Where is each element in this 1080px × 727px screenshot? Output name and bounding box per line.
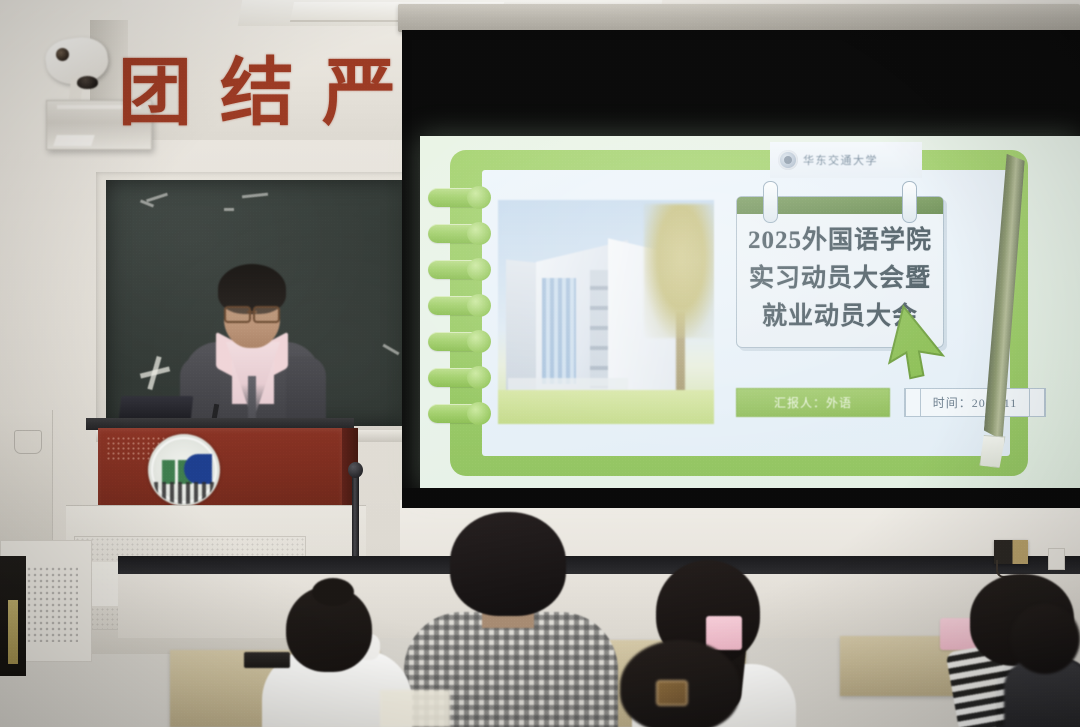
spiral-ring: [428, 260, 486, 279]
notebook-spiral-rings: [428, 188, 492, 442]
spiral-ring: [428, 224, 486, 243]
camera-lens-icon: [56, 48, 69, 61]
dark-device: [244, 652, 290, 668]
spiral-ring: [428, 188, 486, 207]
spiral-ring: [428, 296, 486, 315]
list-item: [1010, 604, 1080, 727]
screen-valance: [398, 4, 1080, 32]
slide-date-label: 时间：2024.11: [904, 388, 1046, 417]
university-logo-plate: 华东交通大学: [770, 142, 922, 178]
chalk-mark: [242, 193, 268, 199]
cabinet-handle[interactable]: [14, 430, 42, 454]
microphone-head-icon: [348, 462, 363, 478]
classroom-scene: 团 结 严: [0, 0, 1080, 727]
screen-bottom-bar: [402, 488, 1080, 508]
wall-motto-char-1: 团: [118, 57, 192, 131]
laptop[interactable]: [119, 396, 194, 420]
paper-sheet: [380, 690, 450, 727]
university-logo-icon: [778, 150, 798, 170]
spiral-ring: [428, 368, 486, 387]
camera-second-lens-icon: [77, 76, 98, 89]
chalk-mark: [224, 208, 234, 211]
slide-title-line-1: 2025外国语学院: [748, 223, 932, 259]
university-logo-text: 华东交通大学: [803, 152, 878, 168]
spiral-ring: [428, 332, 486, 351]
slide-title-line-2: 实习动员大会暨: [749, 261, 931, 297]
glasses-icon: [222, 306, 282, 319]
wall-plate: [1048, 548, 1065, 570]
binder-clip-right-icon: [902, 181, 917, 223]
university-emblem-icon: [148, 434, 220, 506]
door-strip: [8, 600, 18, 664]
wall-motto-char-2: 结: [220, 57, 294, 131]
presenter: [178, 264, 326, 432]
chalk-mark: [146, 193, 168, 203]
presentation-slide: 华东交通大学 2025外国语学院: [420, 136, 1080, 488]
wall-motto-char-3: 严: [322, 57, 396, 131]
spiral-ring: [428, 404, 486, 423]
chalk-mark: [382, 344, 399, 356]
wall-motto: 团 结 严: [118, 52, 418, 136]
slide-presenter-label: 汇报人：外语: [736, 388, 890, 417]
binder-clip-left-icon: [763, 181, 778, 223]
campus-building-photo: [498, 200, 714, 424]
list-item: [620, 640, 752, 727]
